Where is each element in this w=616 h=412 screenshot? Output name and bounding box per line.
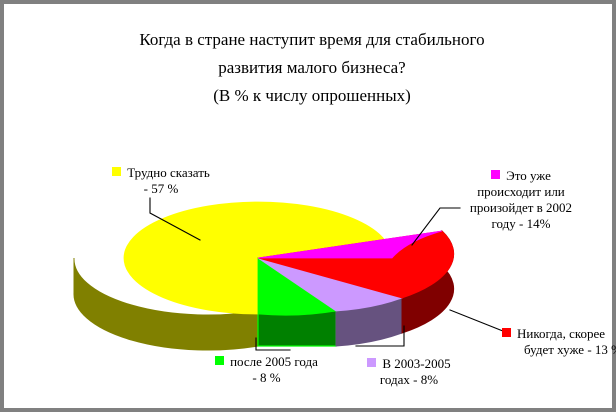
legend-label-v-2003-2005[interactable]: В 2003-2005 годах - 8% <box>344 356 474 388</box>
legend-swatch-nikogda <box>502 328 511 337</box>
legend-text-trudno-skazat-line-1: Трудно сказать <box>127 165 210 180</box>
legend-text-v-2003-2005-line-1: В 2003-2005 <box>382 356 450 371</box>
legend-text-nikogda-line-1: Никогда, скорее <box>517 326 605 341</box>
legend-text-posle-2005-line-1: после 2005 года <box>230 354 318 369</box>
legend-text-eto-uzhe-line-1: Это уже <box>506 168 551 183</box>
leader-line-nikogda <box>450 310 508 333</box>
legend-label-trudno-skazat[interactable]: Трудно сказать - 57 % <box>86 165 236 197</box>
image-frame: Когда в стране наступит время для стабил… <box>0 0 616 412</box>
legend-label-nikogda[interactable]: Никогда, скорее будет хуже - 13 % <box>502 326 616 358</box>
legend-swatch-eto-uzhe <box>491 170 500 179</box>
legend-swatch-posle-2005 <box>215 356 224 365</box>
legend-text-eto-uzhe-line-3: произойдет в 2002 <box>436 200 606 216</box>
legend-text-trudno-skazat-line-2: - 57 % <box>86 181 236 197</box>
legend-swatch-v-2003-2005 <box>367 358 376 367</box>
legend-label-eto-uzhe[interactable]: Это уже происходит или произойдет в 2002… <box>436 168 606 232</box>
legend-text-eto-uzhe-line-4: году - 14% <box>436 216 606 232</box>
legend-text-nikogda-line-2: будет хуже - 13 % <box>502 342 616 358</box>
chart-canvas: Когда в стране наступит время для стабил… <box>8 8 616 412</box>
legend-swatch-trudno-skazat <box>112 167 121 176</box>
legend-text-eto-uzhe-line-2: происходит или <box>436 184 606 200</box>
legend-text-posle-2005-line-2: - 8 % <box>194 370 339 386</box>
pie-slice-side-posle2005 <box>258 311 336 346</box>
legend-label-posle-2005[interactable]: после 2005 года - 8 % <box>194 354 339 386</box>
legend-text-v-2003-2005-line-2: годах - 8% <box>344 372 474 388</box>
